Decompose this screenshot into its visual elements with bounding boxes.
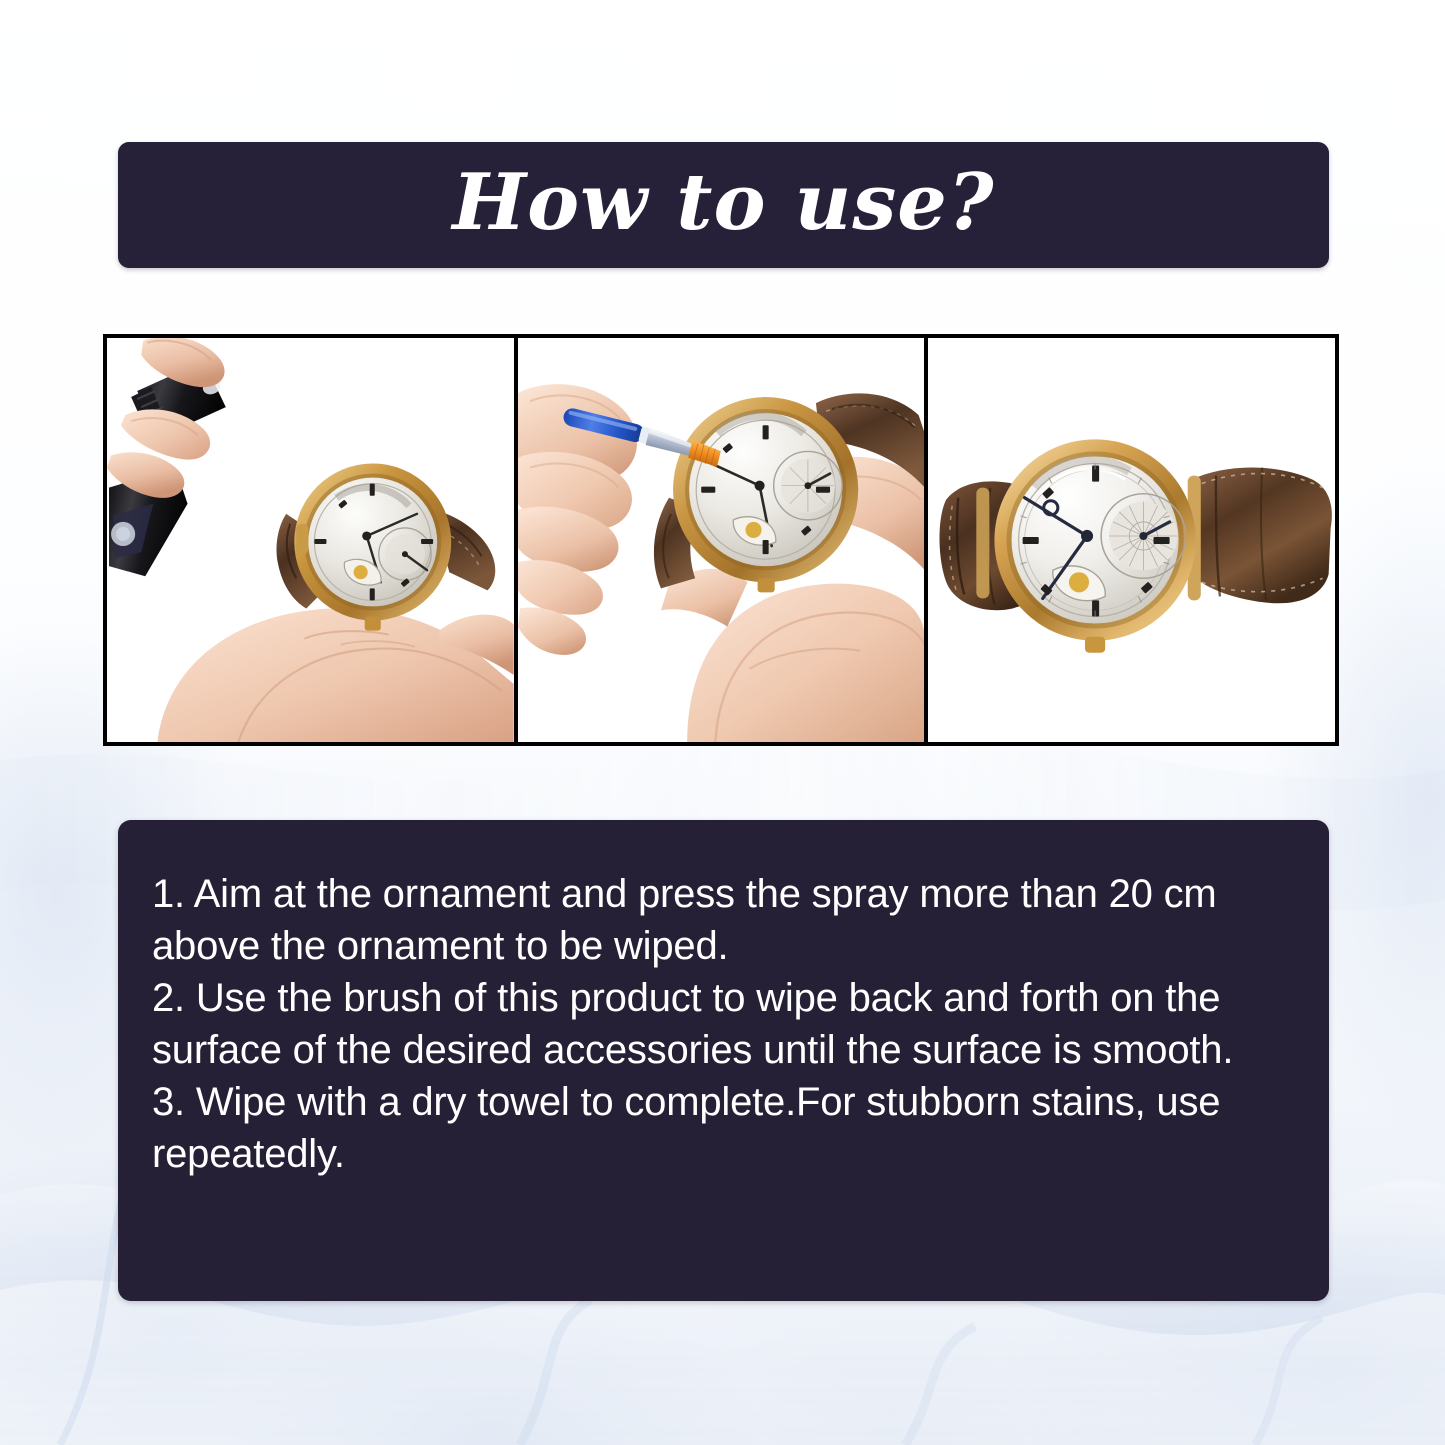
- instructions-panel: 1. Aim at the ornament and press the spr…: [118, 820, 1329, 1301]
- page-title: How to use?: [452, 164, 994, 242]
- step-1-spray-photo[interactable]: [107, 338, 514, 742]
- step-3-result-photo[interactable]: [924, 338, 1335, 742]
- instructions-body: 1. Aim at the ornament and press the spr…: [152, 868, 1293, 1180]
- title-banner: How to use?: [118, 142, 1329, 268]
- step-1-illustration: [107, 338, 514, 742]
- steps-gallery: [103, 334, 1339, 746]
- step-2-illustration: [518, 338, 925, 742]
- step-2-brush-photo[interactable]: [514, 338, 925, 742]
- step-3-illustration: [928, 338, 1335, 742]
